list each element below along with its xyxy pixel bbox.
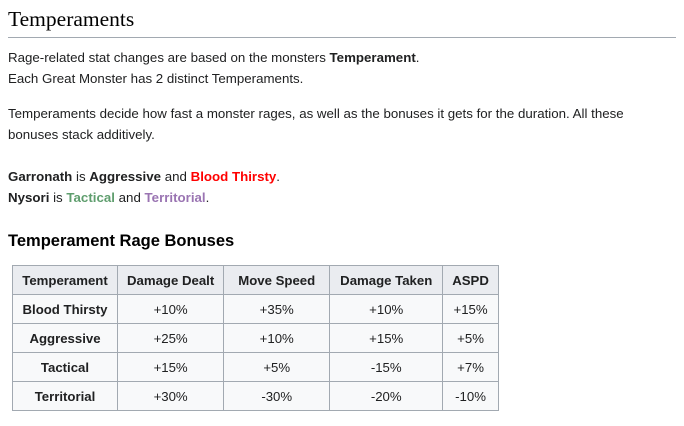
nysori-period: . <box>206 190 210 205</box>
column-header-temperament: Temperament <box>13 266 118 295</box>
cell-territorial-aspd: -10% <box>443 382 499 411</box>
nysori-temperament-tactical: Tactical <box>66 190 115 205</box>
table-row: Aggressive +25% +10% +15% +5% <box>13 324 499 353</box>
intro-line-2: Each Great Monster has 2 distinct Temper… <box>8 68 676 90</box>
monster-line-nysori: Nysori is Tactical and Territorial. <box>8 187 676 209</box>
temperament-rage-bonuses-table: Temperament Damage Dealt Move Speed Dama… <box>12 265 499 411</box>
row-label-territorial: Territorial <box>13 382 118 411</box>
column-header-aspd: ASPD <box>443 266 499 295</box>
column-header-move-speed: Move Speed <box>224 266 330 295</box>
garronath-conjunction: and <box>165 169 187 184</box>
cell-aggressive-damage-taken: +15% <box>330 324 443 353</box>
cell-blood-thirsty-aspd: +15% <box>443 295 499 324</box>
cell-tactical-damage-dealt: +15% <box>118 353 224 382</box>
intro-line-1-text-before: Rage-related stat changes are based on t… <box>8 50 330 65</box>
cell-tactical-aspd: +7% <box>443 353 499 382</box>
nysori-conjunction: and <box>119 190 141 205</box>
column-header-damage-dealt: Damage Dealt <box>118 266 224 295</box>
monster-temperament-block: Garronath is Aggressive and Blood Thirst… <box>8 166 676 209</box>
garronath-period: . <box>276 169 280 184</box>
cell-blood-thirsty-move-speed: +35% <box>224 295 330 324</box>
garronath-temperament-blood-thirsty: Blood Thirsty <box>191 169 277 184</box>
cell-territorial-damage-dealt: +30% <box>118 382 224 411</box>
table-row: Territorial +30% -30% -20% -10% <box>13 382 499 411</box>
temperament-keyword: Temperament <box>330 50 416 65</box>
intro-line-1: Rage-related stat changes are based on t… <box>8 47 676 69</box>
cell-aggressive-damage-dealt: +25% <box>118 324 224 353</box>
monster-name-nysori: Nysori <box>8 190 49 205</box>
table-header-row: Temperament Damage Dealt Move Speed Dama… <box>13 266 499 295</box>
description-paragraph-block: Temperaments decide how fast a monster r… <box>8 103 676 146</box>
cell-aggressive-aspd: +5% <box>443 324 499 353</box>
table-row: Blood Thirsty +10% +35% +10% +15% <box>13 295 499 324</box>
cell-aggressive-move-speed: +10% <box>224 324 330 353</box>
cell-blood-thirsty-damage-dealt: +10% <box>118 295 224 324</box>
nysori-verb: is <box>53 190 63 205</box>
table-title: Temperament Rage Bonuses <box>8 231 676 252</box>
monster-line-garronath: Garronath is Aggressive and Blood Thirst… <box>8 166 676 188</box>
monster-name-garronath: Garronath <box>8 169 72 184</box>
row-label-blood-thirsty: Blood Thirsty <box>13 295 118 324</box>
cell-tactical-move-speed: +5% <box>224 353 330 382</box>
column-header-damage-taken: Damage Taken <box>330 266 443 295</box>
description-paragraph: Temperaments decide how fast a monster r… <box>8 103 676 146</box>
nysori-temperament-territorial: Territorial <box>145 190 206 205</box>
intro-line-1-text-after: . <box>416 50 420 65</box>
article-body: Temperaments Rage-related stat changes a… <box>0 0 684 426</box>
row-label-tactical: Tactical <box>13 353 118 382</box>
row-label-aggressive: Aggressive <box>13 324 118 353</box>
intro-paragraph-block: Rage-related stat changes are based on t… <box>8 47 676 90</box>
cell-tactical-damage-taken: -15% <box>330 353 443 382</box>
garronath-verb: is <box>76 169 86 184</box>
cell-territorial-move-speed: -30% <box>224 382 330 411</box>
cell-territorial-damage-taken: -20% <box>330 382 443 411</box>
page-title: Temperaments <box>8 0 676 38</box>
garronath-temperament-aggressive: Aggressive <box>89 169 161 184</box>
table-row: Tactical +15% +5% -15% +7% <box>13 353 499 382</box>
cell-blood-thirsty-damage-taken: +10% <box>330 295 443 324</box>
